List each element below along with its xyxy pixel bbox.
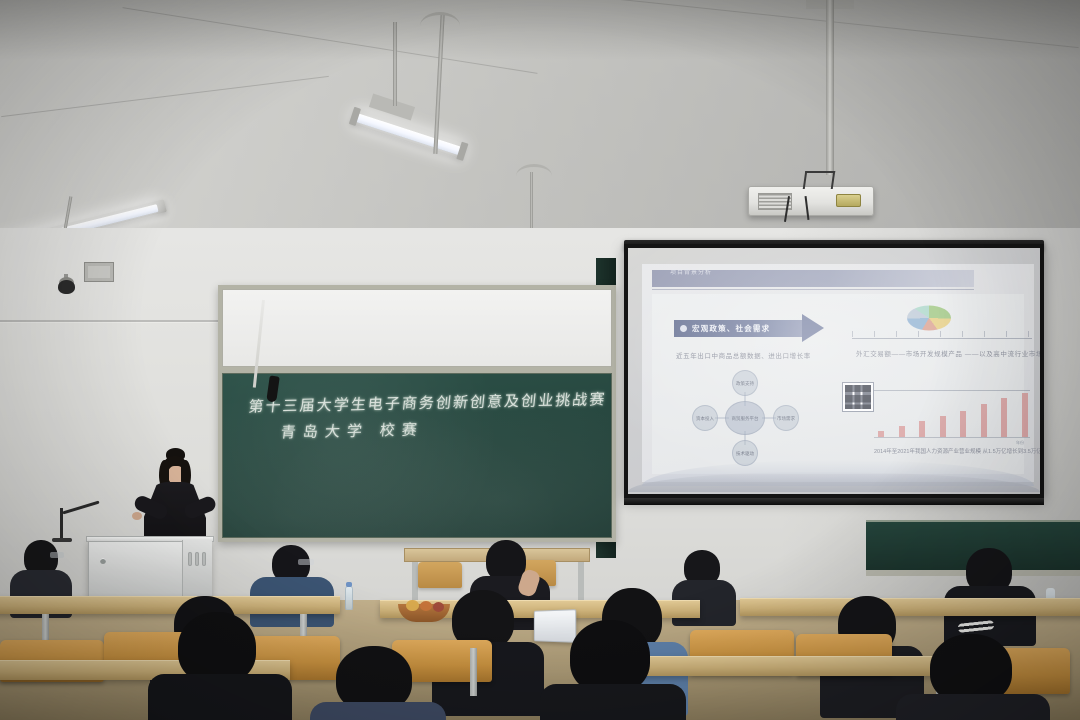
ceiling-shading xyxy=(0,0,1080,260)
qr-pattern xyxy=(845,385,871,409)
fruit-item xyxy=(406,600,419,611)
audience-person xyxy=(148,612,288,720)
slide-diagram: 政策支持 资本投入 商贸服务平台 市场需求 技术驱动 xyxy=(692,370,802,466)
blackboard-line-2: 青岛大学 校赛 xyxy=(280,419,425,443)
person-glasses-icon xyxy=(50,552,64,558)
bar-chart-top-rule xyxy=(874,390,1030,391)
slide-body: 宏观政策、社会需求 近五年出口中商品总额数据、进出口增长率 外汇交易额——市场开… xyxy=(652,294,1024,474)
security-camera-icon xyxy=(58,280,75,294)
podium-knob xyxy=(100,558,106,564)
diagram-node-right: 市场需求 xyxy=(773,405,799,431)
podium-slot xyxy=(202,552,206,566)
qr-code-icon xyxy=(842,382,874,412)
presentation-slide: 项目背景分析 宏观政策、社会需求 近五年出口中商品总额数据、进出口增长率 外汇交… xyxy=(642,264,1034,482)
fruit-item xyxy=(420,601,432,611)
slide-header-text: 项目背景分析 xyxy=(670,267,712,276)
water-bottle-cap xyxy=(346,582,352,587)
bar-chart-xlabel: 年份 xyxy=(1016,440,1024,446)
blackboard-line-1: 第十三届大学生电子商务创新创意及创业挑战赛 xyxy=(248,388,608,416)
water-bottle xyxy=(345,586,353,610)
microphone-stem xyxy=(60,508,63,540)
podium-slot xyxy=(195,552,199,566)
diagram-node-top: 政策支持 xyxy=(732,370,758,396)
person-glasses-icon xyxy=(298,559,314,565)
slide-subtitle-right: 外汇交易额——市场开发规模产品 ——以及高中流行业市场下 xyxy=(856,350,1040,360)
person-torso xyxy=(310,702,446,720)
pie-axis-line xyxy=(852,338,1032,339)
slide-subtitle-left: 近五年出口中商品总额数据、进出口增长率 xyxy=(676,350,811,360)
bar-chart-note: 2014年至2021年我国人力资源产业营业规模 从1.5万亿增长到3.5万亿 xyxy=(874,448,1040,456)
person-torso xyxy=(896,694,1050,720)
slide-banner-text: 宏观政策、社会需求 xyxy=(692,323,770,334)
classroom-scene: 第十三届大学生电子商务创新创意及创业挑战赛 青岛大学 校赛 项目背景分析 宏观政… xyxy=(0,0,1080,720)
podium-vent-slots xyxy=(188,552,206,566)
front-chair xyxy=(418,562,462,588)
podium-side-panel xyxy=(182,540,212,602)
bar xyxy=(981,404,987,437)
diagram-node-left: 资本投入 xyxy=(692,405,718,431)
wall-mounted-box xyxy=(84,262,114,282)
screen-bottom-bar xyxy=(624,498,1044,505)
bar-chart-bars xyxy=(878,393,1028,437)
audience-person xyxy=(540,620,680,720)
bar xyxy=(899,426,905,437)
projector-mount xyxy=(803,171,836,189)
arrow-right-icon xyxy=(802,314,824,342)
audience-person xyxy=(944,548,1030,638)
person-head xyxy=(570,620,650,694)
projection-screen-canvas: 项目背景分析 宏观政策、社会需求 近五年出口中商品总额数据、进出口增长率 外汇交… xyxy=(628,248,1040,494)
blackboard: 第十三届大学生电子商务创新创意及创业挑战赛 青岛大学 校赛 xyxy=(218,285,616,542)
projector-lens-icon xyxy=(836,194,861,207)
blackboard-writing-surface: 第十三届大学生电子商务创新创意及创业挑战赛 青岛大学 校赛 xyxy=(222,373,612,538)
slide-bar-chart: 年份 2014年至2021年我国人力资源产业营业规模 从1.5万亿增长到3.5万… xyxy=(874,390,1030,446)
light-rod xyxy=(393,22,397,106)
projector-pole xyxy=(826,0,834,175)
person-torso xyxy=(540,684,686,720)
banner-bullet-icon xyxy=(680,325,687,332)
desk-leg xyxy=(470,648,477,696)
slide-header-rule xyxy=(652,289,974,290)
bar xyxy=(960,411,966,437)
ceiling-projector xyxy=(748,186,874,216)
audience-person xyxy=(896,634,1046,720)
slide-pie-chart xyxy=(907,306,951,331)
bar xyxy=(940,416,946,437)
person-torso xyxy=(148,674,292,720)
projection-screen[interactable]: 项目背景分析 宏观政策、社会需求 近五年出口中商品总额数据、进出口增长率 外汇交… xyxy=(624,244,1044,498)
blackboard-upper-panel xyxy=(222,289,612,367)
pie-axis-ticks xyxy=(852,331,1032,337)
audience-person xyxy=(310,646,440,720)
bar xyxy=(919,421,925,437)
bar-chart-baseline xyxy=(874,437,1030,438)
podium-slot xyxy=(188,552,192,566)
bar xyxy=(1022,393,1028,437)
slide-banner: 宏观政策、社会需求 xyxy=(674,320,804,337)
diagram-node-center: 商贸服务平台 xyxy=(725,401,765,435)
bar xyxy=(1001,398,1007,437)
presenter-hand-left xyxy=(132,512,142,520)
wall-rail-highlight xyxy=(0,322,232,323)
